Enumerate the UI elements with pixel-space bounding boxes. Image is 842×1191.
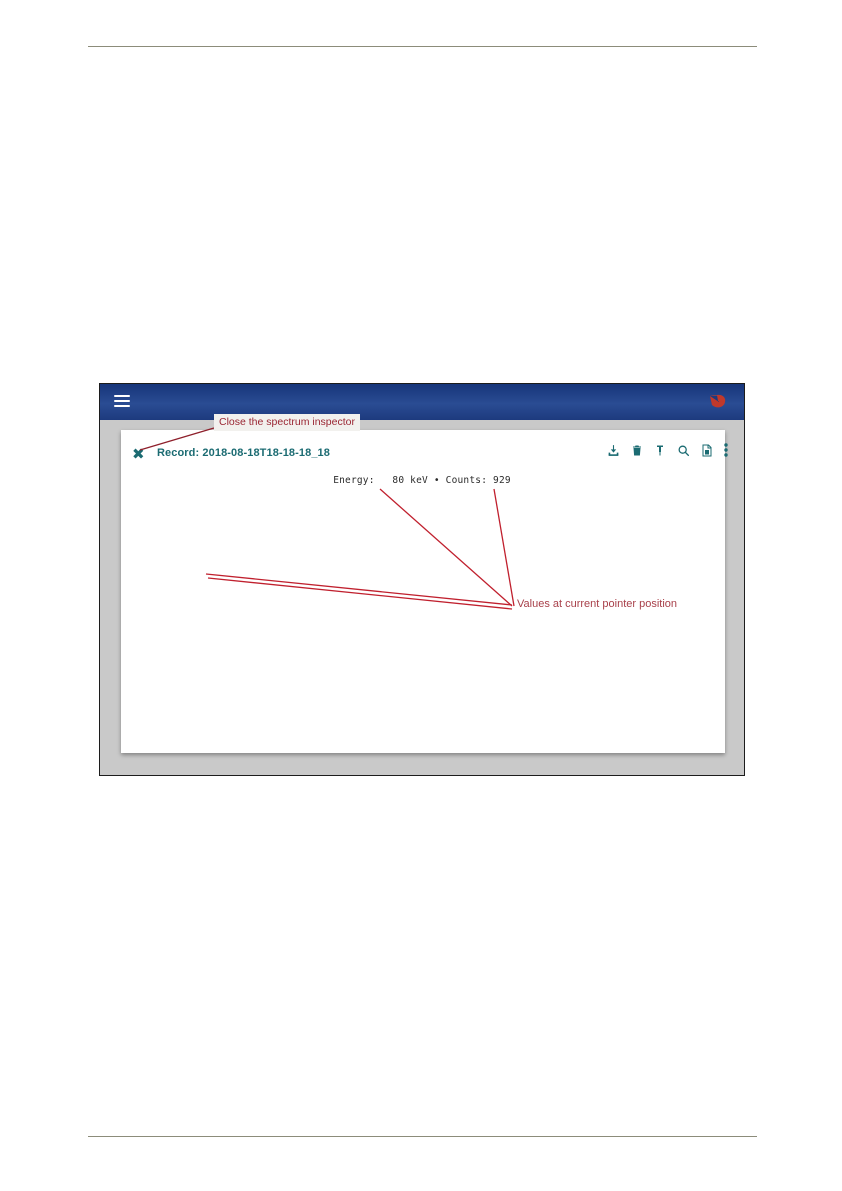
- download-icon[interactable]: [607, 444, 620, 457]
- card-toolbar: [607, 443, 728, 457]
- record-title: Record: 2018-08-18T18-18-18_18: [157, 447, 330, 459]
- more-vert-icon[interactable]: [724, 443, 728, 457]
- app-logo-icon: [706, 390, 730, 414]
- app-bar: [100, 384, 744, 420]
- page-footer-rule: [88, 1136, 757, 1137]
- pointer-readout: Energy: 80 keV • Counts: 929: [100, 475, 744, 486]
- hamburger-menu-icon[interactable]: [114, 395, 130, 408]
- search-icon[interactable]: [677, 444, 690, 457]
- trash-icon[interactable]: [631, 444, 643, 457]
- app-screenshot: ✖ Record: 2018-08-18T18-18-18_18: [99, 383, 745, 776]
- pdf-export-icon[interactable]: [701, 444, 713, 457]
- page-header-rule: [88, 46, 757, 47]
- pin-icon[interactable]: [654, 444, 666, 457]
- close-inspector-button[interactable]: ✖: [132, 447, 145, 462]
